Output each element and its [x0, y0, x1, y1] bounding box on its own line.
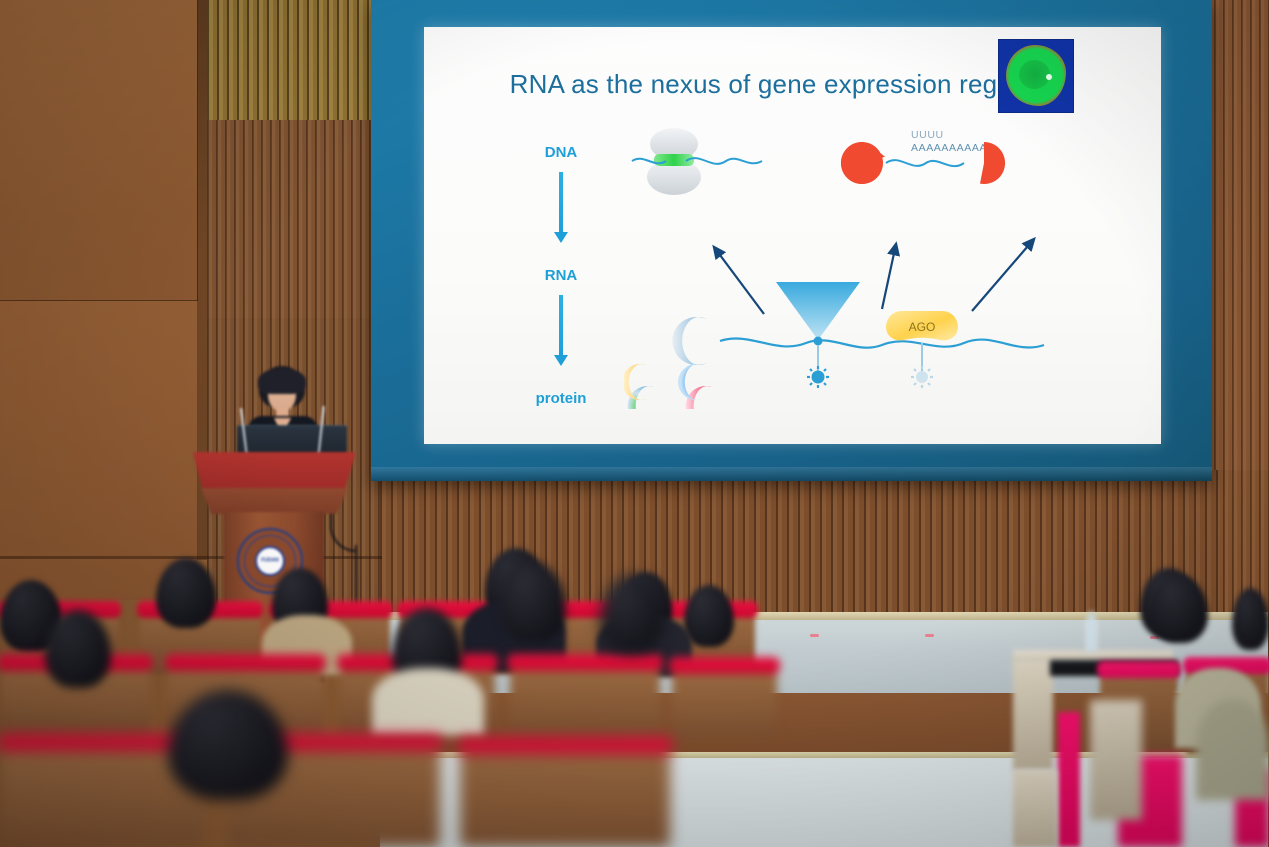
wall-panel-smooth-lower [0, 300, 198, 600]
pathway-arrows [714, 239, 1034, 314]
stage-light-reflection [810, 634, 819, 637]
arrow-to-ribosome [714, 247, 764, 314]
audience-shoulders [1196, 700, 1269, 800]
projection-screen-frame: RNA as the nexus of gene expression regu… [371, 0, 1212, 481]
ribosome-group [632, 128, 762, 195]
water-bottle [1086, 618, 1097, 652]
speaker-hair-front [258, 368, 306, 394]
dogma-label-rna: RNA [496, 268, 626, 283]
seat-mid-row [672, 668, 777, 738]
presentation-slide: RNA as the nexus of gene expression regu… [424, 27, 1161, 444]
wall-panel-slat-mid [207, 120, 382, 320]
stage-light-reflection [925, 634, 934, 637]
seat-front-row [460, 748, 670, 847]
dogma-arrow-dna-to-rna [559, 172, 563, 234]
bright-puncta [1046, 74, 1052, 80]
seal-line-1: FUDAN [261, 557, 279, 563]
audience-shoulders [372, 668, 484, 736]
dogma-arrow-rna-to-protein [559, 295, 563, 357]
seal-text: FUDAN [241, 558, 299, 564]
arrow-to-exonuclease [882, 244, 896, 309]
central-dogma-column: DNA RNA protein [496, 145, 626, 406]
cell-nucleus [1019, 60, 1050, 89]
dogma-label-dna: DNA [496, 145, 626, 160]
arrow-to-micrograph [972, 239, 1034, 311]
wall-panel-slat-top [207, 0, 382, 122]
funnel-protein [776, 282, 860, 388]
rbp-legend-lower [624, 357, 744, 417]
seat-side-panel-pink [1058, 712, 1080, 847]
rbp-yellow-icon [624, 364, 646, 400]
seat-mid-row [510, 665, 660, 737]
ago-protein: AGO [886, 311, 958, 388]
exonuclease-group [836, 137, 1006, 190]
auditorium-photo: RNA as the nexus of gene expression regu… [0, 0, 1269, 847]
audience-desk-side [1013, 660, 1053, 770]
podium-top [193, 452, 356, 490]
rbp-blue-icon [678, 364, 702, 400]
fluorescence-micrograph [998, 39, 1074, 113]
rna-strand [720, 338, 1044, 347]
podium-skirt [201, 488, 348, 514]
dogma-label-protein: protein [496, 391, 626, 406]
audience-desk-side [1013, 770, 1057, 847]
ago-label: AGO [909, 320, 936, 334]
audience-desk-side [1090, 700, 1142, 820]
